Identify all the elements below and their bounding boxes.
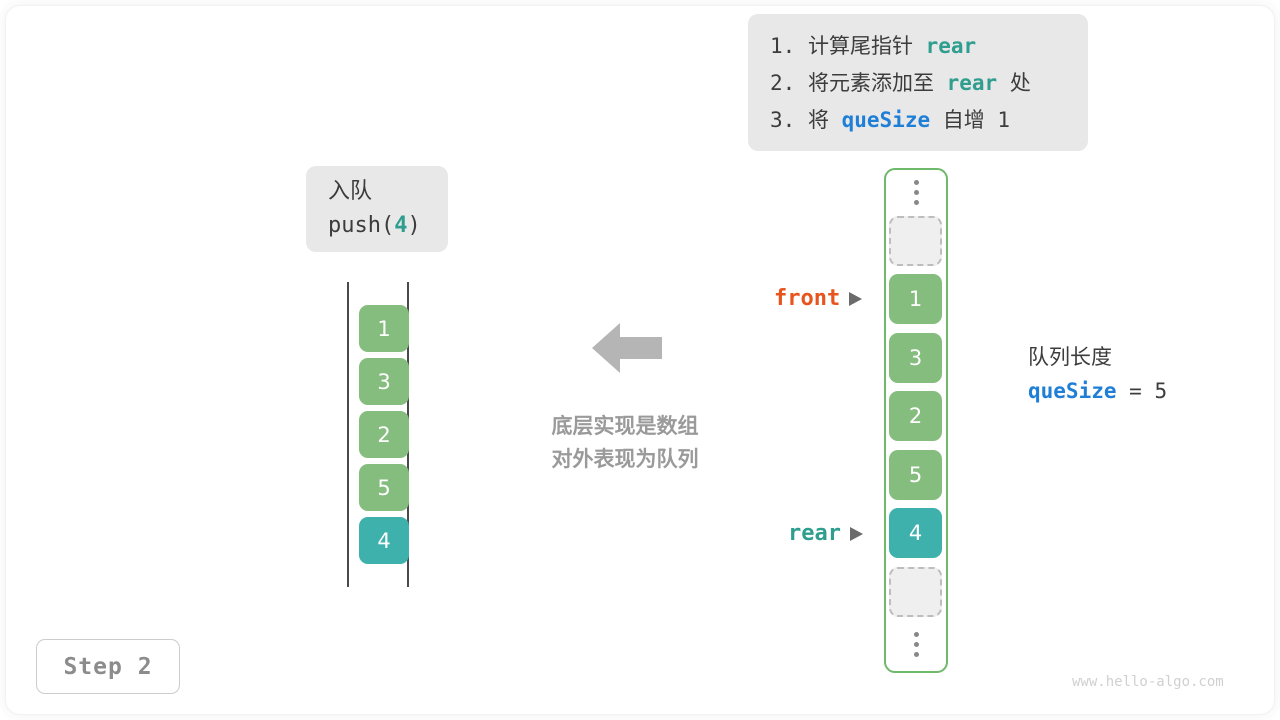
step-2-text-after: 处 xyxy=(997,71,1031,95)
queue-cell: 2 xyxy=(359,411,409,458)
push-operation-box: 入队 push(4) xyxy=(306,166,448,252)
queue-cell: 5 xyxy=(359,464,409,511)
array-cell-value: 2 xyxy=(909,404,922,428)
queue-cell-new: 4 xyxy=(359,517,409,564)
quesize-var: queSize xyxy=(1028,379,1117,403)
step-badge: Step 2 xyxy=(36,639,180,694)
caption-line-1: 底层实现是数组 xyxy=(505,410,745,443)
step-2-keyword: rear xyxy=(947,71,998,95)
quesize-label: 队列长度 xyxy=(1028,341,1167,374)
array-dots-top xyxy=(908,180,924,206)
array-cell-value: 3 xyxy=(909,346,922,370)
push-title: 入队 xyxy=(328,175,448,209)
step-1-number: 1. xyxy=(770,34,795,58)
logical-queue: 1 3 2 5 4 xyxy=(330,282,425,587)
quesize-value: 5 xyxy=(1154,379,1167,403)
queue-cell: 1 xyxy=(359,305,409,352)
step-1-text-before: 计算尾指针 xyxy=(808,34,926,58)
step-line-1: 1. 计算尾指针 rear xyxy=(770,28,1066,65)
queue-cell-value: 5 xyxy=(377,476,390,500)
left-arrow-icon xyxy=(592,320,662,376)
array-cell-new: 4 xyxy=(889,508,942,558)
arrowhead-icon xyxy=(849,292,862,306)
step-line-2: 2. 将元素添加至 rear 处 xyxy=(770,65,1066,102)
array-cell-empty xyxy=(889,216,942,266)
array-dots-bottom xyxy=(908,632,924,658)
step-3-number: 3. xyxy=(770,108,795,132)
quesize-expression: queSize = 5 xyxy=(1028,374,1167,409)
front-pointer-label: front xyxy=(774,286,840,311)
array-cell-empty xyxy=(889,567,942,617)
array-cell: 2 xyxy=(889,391,942,441)
step-1-keyword: rear xyxy=(926,34,977,58)
step-line-3: 3. 将 queSize 自增 1 xyxy=(770,102,1066,139)
queue-cell-value: 1 xyxy=(377,317,390,341)
queue-rail-left xyxy=(347,282,349,587)
rear-pointer-label: rear xyxy=(788,521,841,546)
queue-cell-value: 2 xyxy=(377,423,390,447)
step-3-keyword: queSize xyxy=(842,108,931,132)
array-cell-value: 1 xyxy=(909,287,922,311)
step-3-text-before: 将 xyxy=(808,108,842,132)
caption-line-2: 对外表现为队列 xyxy=(505,443,745,476)
array-cell: 1 xyxy=(889,274,942,324)
step-2-text-before: 将元素添加至 xyxy=(808,71,947,95)
quesize-equals: = xyxy=(1117,379,1155,403)
front-pointer: front xyxy=(774,286,862,311)
array-cell-value: 5 xyxy=(909,463,922,487)
step-badge-label: Step 2 xyxy=(63,654,152,680)
steps-description-box: 1. 计算尾指针 rear 2. 将元素添加至 rear 处 3. 将 queS… xyxy=(748,14,1088,151)
queue-cell: 3 xyxy=(359,358,409,405)
step-3-text-after: 自增 1 xyxy=(930,108,1010,132)
center-caption: 底层实现是数组 对外表现为队列 xyxy=(505,410,745,476)
step-2-number: 2. xyxy=(770,71,795,95)
array-cell: 3 xyxy=(889,333,942,383)
push-call-suffix: ) xyxy=(407,213,420,238)
quesize-info: 队列长度 queSize = 5 xyxy=(1028,341,1167,409)
watermark: www.hello-algo.com xyxy=(1072,674,1224,690)
push-call-arg: 4 xyxy=(394,213,407,238)
array-cell-value: 4 xyxy=(909,521,922,545)
diagram-canvas: 1. 计算尾指针 rear 2. 将元素添加至 rear 处 3. 将 queS… xyxy=(0,0,1280,720)
arrowhead-icon xyxy=(850,527,863,541)
queue-cell-value: 4 xyxy=(377,529,390,553)
rear-pointer: rear xyxy=(788,521,863,546)
array-cell: 5 xyxy=(889,450,942,500)
push-call: push(4) xyxy=(328,209,448,243)
queue-cell-value: 3 xyxy=(377,370,390,394)
push-call-prefix: push( xyxy=(328,213,394,238)
